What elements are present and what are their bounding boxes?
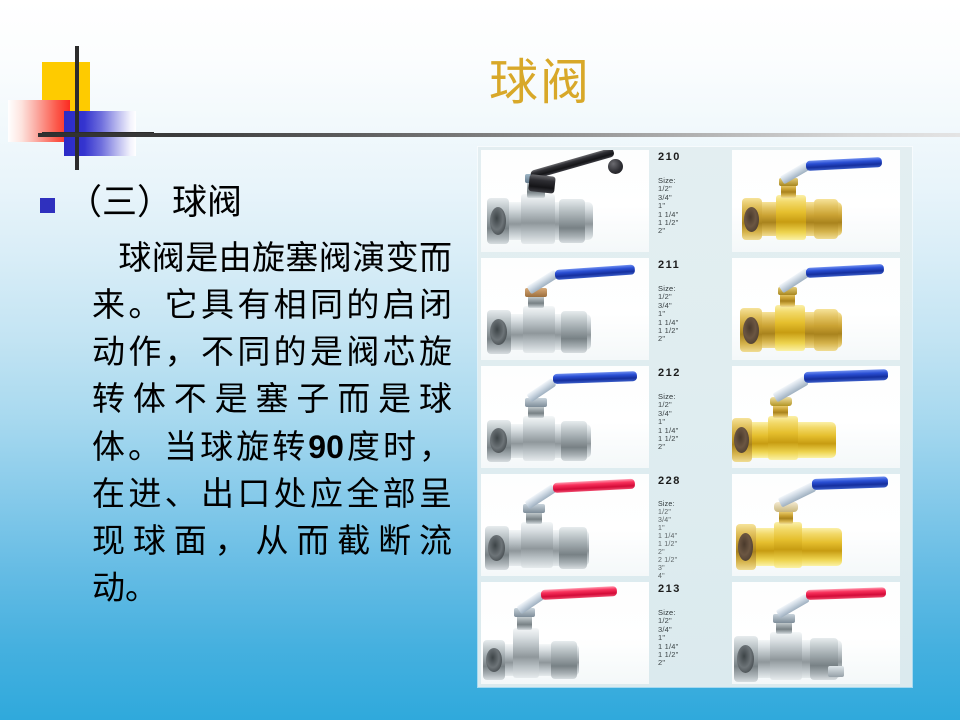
size-item: 2 1/2" (658, 557, 732, 565)
size-list: Size: 1/2" 3/4" 1" 1 1/4" 1 1/2" 2" (658, 393, 732, 452)
model-number: 212 (658, 367, 732, 379)
size-item: 1 1/2" (658, 651, 732, 659)
catalog-row: 211 Size: 1/2" 3/4" 1" 1 1/4" 1 1/2" 2" (478, 255, 912, 363)
valve-photo-chrome-blue-lever (481, 366, 649, 468)
catalog-row: 212 Size: 1/2" 3/4" 1" 1 1/4" 1 1/2" 2" (478, 363, 912, 471)
model-number: 211 (658, 259, 732, 271)
model-number: 228 (658, 475, 732, 487)
catalog-label-cell: 211 Size: 1/2" 3/4" 1" 1 1/4" 1 1/2" 2" (652, 255, 732, 363)
catalog-row: 210 Size: 1/2" 3/4" 1" 1 1/4" 1 1/2" 2" (478, 147, 912, 255)
size-item: 2" (658, 335, 732, 343)
catalog-label-cell: 210 Size: 1/2" 3/4" 1" 1 1/4" 1 1/2" 2" (652, 147, 732, 255)
body-paragraph: 球阀是由旋塞阀演变而来。它具有相同的启闭动作，不同的是阀芯旋转体不是塞子而是球体… (92, 236, 452, 613)
presentation-slide: 球阀 （三）球阀 球阀是由旋塞阀演变而来。它具有相同的启闭动作，不同的是阀芯旋转… (0, 0, 960, 720)
title-divider-rule (38, 133, 960, 137)
valve-photo-brass-blue-lever (732, 258, 900, 360)
size-item: 2" (658, 549, 732, 557)
size-item: 3/4" (658, 302, 732, 310)
model-number: 210 (658, 151, 732, 163)
size-item: 1 1/2" (658, 219, 732, 227)
valve-photo-chrome-red-lever (481, 474, 649, 576)
catalog-label-cell: 212 Size: 1/2" 3/4" 1" 1 1/4" 1 1/2" 2" (652, 363, 732, 471)
size-item: 2" (658, 443, 732, 451)
size-item: 3/4" (658, 410, 732, 418)
body-text-emphasis: 90 (308, 429, 344, 465)
catalog-label-cell: 228 Size: 1/2" 3/4" 1" 1 1/4" 1 1/2" 2" … (652, 471, 732, 579)
size-item: 3/4" (658, 626, 732, 634)
valve-photo-chrome-red-lever-drain (732, 582, 900, 684)
size-item: 1/2" (658, 509, 732, 517)
model-number: 213 (658, 583, 732, 595)
size-item: 3" (658, 565, 732, 573)
valve-photo-chrome-red-lever (481, 582, 649, 684)
slide-title: 球阀 (160, 52, 920, 114)
valve-photo-brass-blue-lever (732, 150, 900, 252)
size-item: 1 1/2" (658, 435, 732, 443)
decorative-logo-mark (4, 44, 154, 172)
catalog-label-cell: 213 Size: 1/2" 3/4" 1" 1 1/4" 1 1/2" 2" (652, 579, 732, 687)
size-label: Size: (658, 501, 732, 509)
valve-photo-gold-blue-lever (732, 366, 900, 468)
size-item: 1" (658, 525, 732, 533)
size-list: Size: 1/2" 3/4" 1" 1 1/4" 1 1/2" 2" (658, 609, 732, 668)
size-item: 3/4" (658, 517, 732, 525)
size-list: Size: 1/2" 3/4" 1" 1 1/4" 1 1/2" 2" (658, 285, 732, 344)
content-text-column: （三）球阀 球阀是由旋塞阀演变而来。它具有相同的启闭动作，不同的是阀芯旋转体不是… (40, 178, 460, 613)
valve-photo-chrome-blue-lever (481, 258, 649, 360)
section-heading: （三）球阀 (67, 178, 242, 228)
size-list: Size: 1/2" 3/4" 1" 1 1/4" 1 1/2" 2" (658, 177, 732, 236)
size-item: 3/4" (658, 194, 732, 202)
catalog-row: 228 Size: 1/2" 3/4" 1" 1 1/4" 1 1/2" 2" … (478, 471, 912, 579)
product-catalog-panel: 210 Size: 1/2" 3/4" 1" 1 1/4" 1 1/2" 2" (478, 147, 912, 687)
size-item: 1 1/2" (658, 327, 732, 335)
catalog-row: 213 Size: 1/2" 3/4" 1" 1 1/4" 1 1/2" 2" (478, 579, 912, 687)
section-heading-row: （三）球阀 (40, 178, 460, 228)
valve-photo-gold-blue-lever (732, 474, 900, 576)
logo-vertical-line (75, 46, 79, 170)
size-item: 2" (658, 227, 732, 235)
size-item: 2" (658, 659, 732, 667)
valve-photo-chrome-black-lever (481, 150, 649, 252)
size-item: 1 1/4" (658, 533, 732, 541)
size-item: 1 1/2" (658, 541, 732, 549)
size-list: Size: 1/2" 3/4" 1" 1 1/4" 1 1/2" 2" 2 1/… (658, 501, 732, 579)
bullet-square-icon (40, 198, 55, 213)
